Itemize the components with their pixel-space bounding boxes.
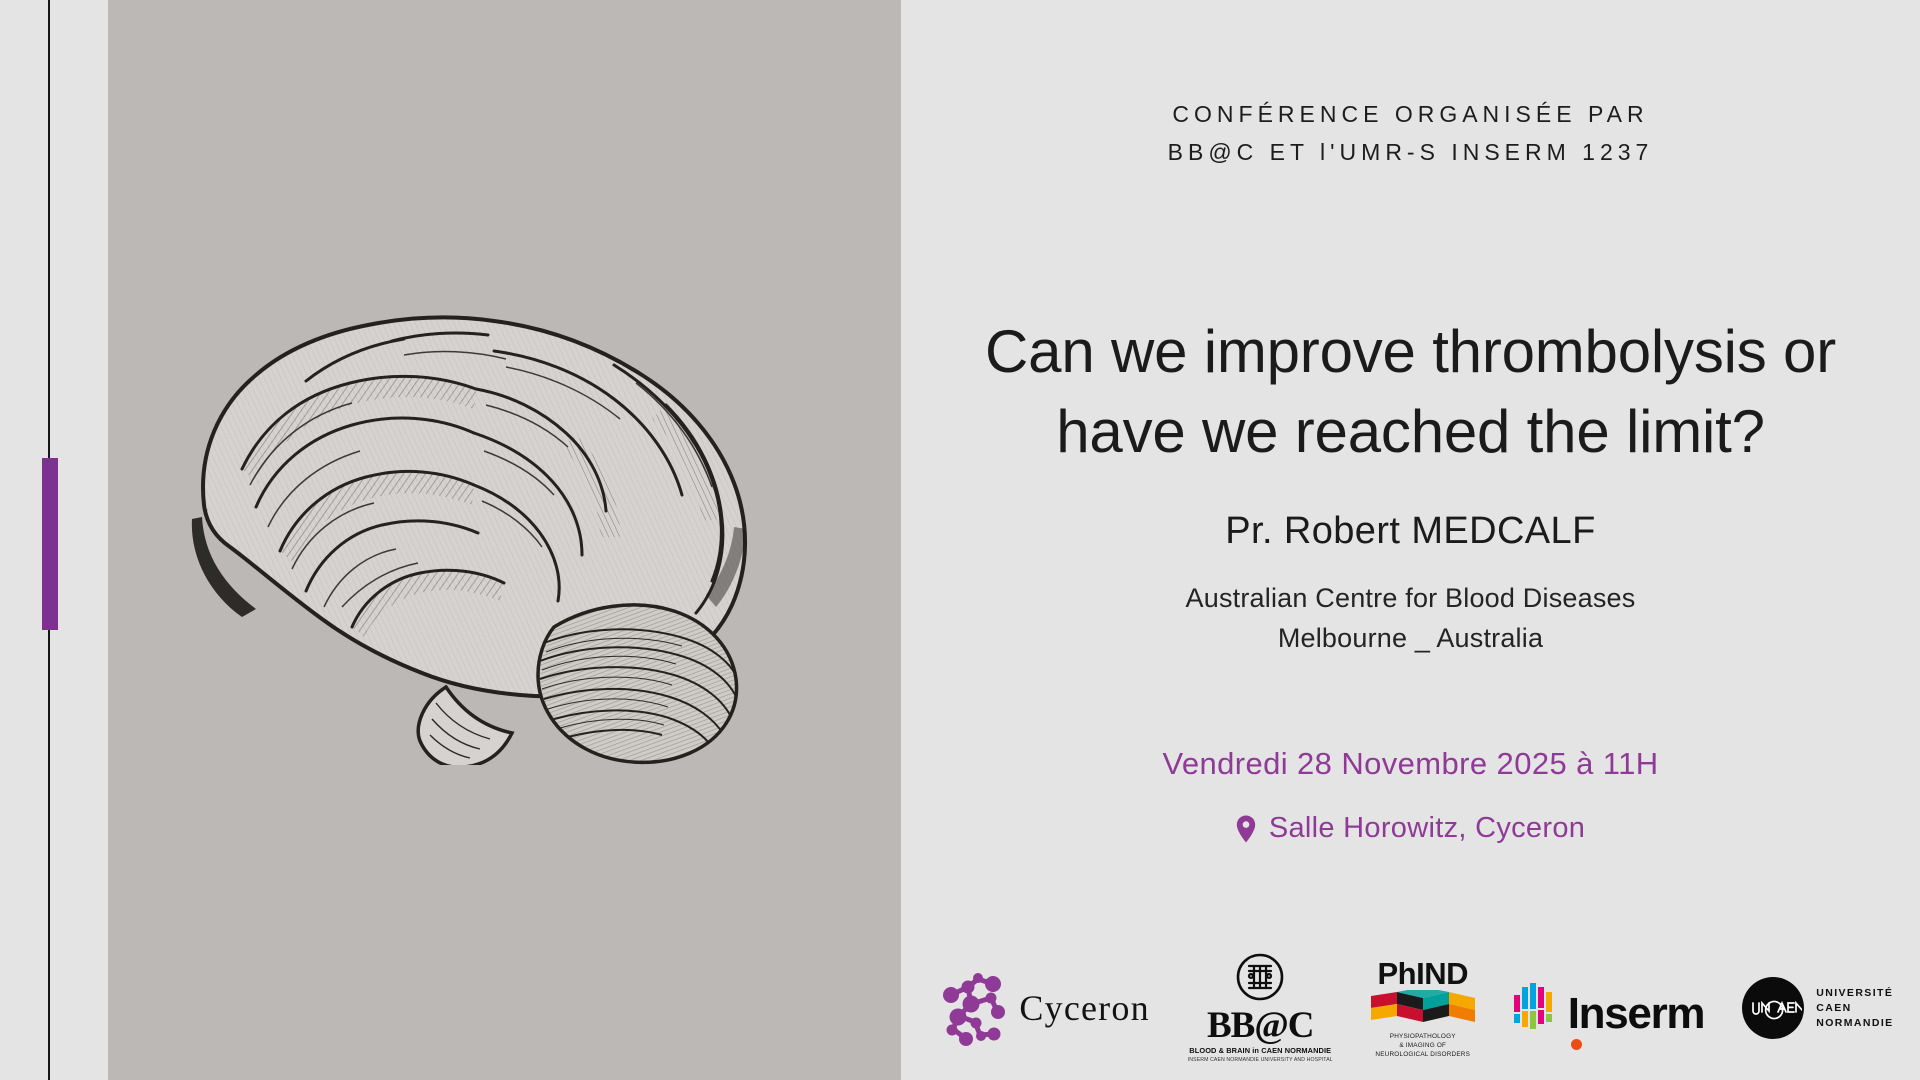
logo-unicaen: UNIVERSITÉ CAEN NORMANDIE: [1742, 977, 1893, 1039]
map-pin-icon: [1236, 815, 1256, 843]
phind-subtitle: PHYSIOPATHOLOGY & IMAGING OF NEUROLOGICA…: [1375, 1032, 1470, 1059]
inserm-bars-mark: [1513, 981, 1559, 1036]
logo-inserm: Inserm: [1513, 981, 1705, 1036]
cyceron-wordmark: Cyceron: [1019, 987, 1149, 1029]
organiser-kicker: CONFÉRENCE ORGANISÉE PAR BB@C ET l'UMR-S…: [901, 95, 1920, 171]
inserm-wordmark-wrapper: Inserm: [1568, 992, 1705, 1036]
illustration-panel: [108, 0, 901, 1080]
partner-logos: Cyceron: [901, 948, 1920, 1068]
conference-poster: CONFÉRENCE ORGANISÉE PAR BB@C ET l'UMR-S…: [0, 0, 1920, 1080]
accent-bar: [42, 458, 58, 630]
logo-phind: PhIND PHYSIOPATHOLOGY & IMAGING OF: [1371, 958, 1475, 1059]
phind-wordmark: PhIND: [1377, 958, 1468, 990]
bbac-subtitle-secondary: INSERM CAEN NORMANDIE UNIVERSITY AND HOS…: [1188, 1057, 1333, 1063]
unicaen-circle-mark: [1742, 977, 1804, 1039]
speaker-affiliation: Australian Centre for Blood Diseases Mel…: [901, 578, 1920, 658]
event-location-label: Salle Horowitz, Cyceron: [1269, 812, 1585, 845]
content-panel: CONFÉRENCE ORGANISÉE PAR BB@C ET l'UMR-S…: [901, 0, 1920, 1080]
speaker-name: Pr. Robert MEDCALF: [901, 510, 1920, 553]
logo-bbac: BB@C BLOOD & BRAIN in CAEN NORMANDIE INS…: [1188, 953, 1333, 1063]
bbac-wordmark: BB@C: [1207, 1007, 1314, 1045]
unicaen-subtitle: UNIVERSITÉ CAEN NORMANDIE: [1816, 986, 1893, 1031]
brain-engraving-illustration: [146, 255, 826, 765]
event-location: Salle Horowitz, Cyceron: [901, 812, 1920, 845]
event-date: Vendredi 28 Novembre 2025 à 11H: [901, 746, 1920, 782]
inserm-dot-mark: [1571, 1039, 1582, 1050]
logo-cyceron: Cyceron: [935, 966, 1149, 1051]
bbac-subtitle-primary: BLOOD & BRAIN in CAEN NORMANDIE: [1189, 1046, 1331, 1055]
bbac-circle-mark: [1236, 953, 1284, 1006]
cyceron-molecule-mark: [935, 966, 1013, 1051]
left-decorative-rail: [0, 0, 108, 1080]
page-title: Can we improve thrombolysis or have we r…: [911, 312, 1910, 472]
inserm-wordmark: Inserm: [1568, 989, 1705, 1038]
phind-colorblocks-mark: [1371, 990, 1475, 1029]
